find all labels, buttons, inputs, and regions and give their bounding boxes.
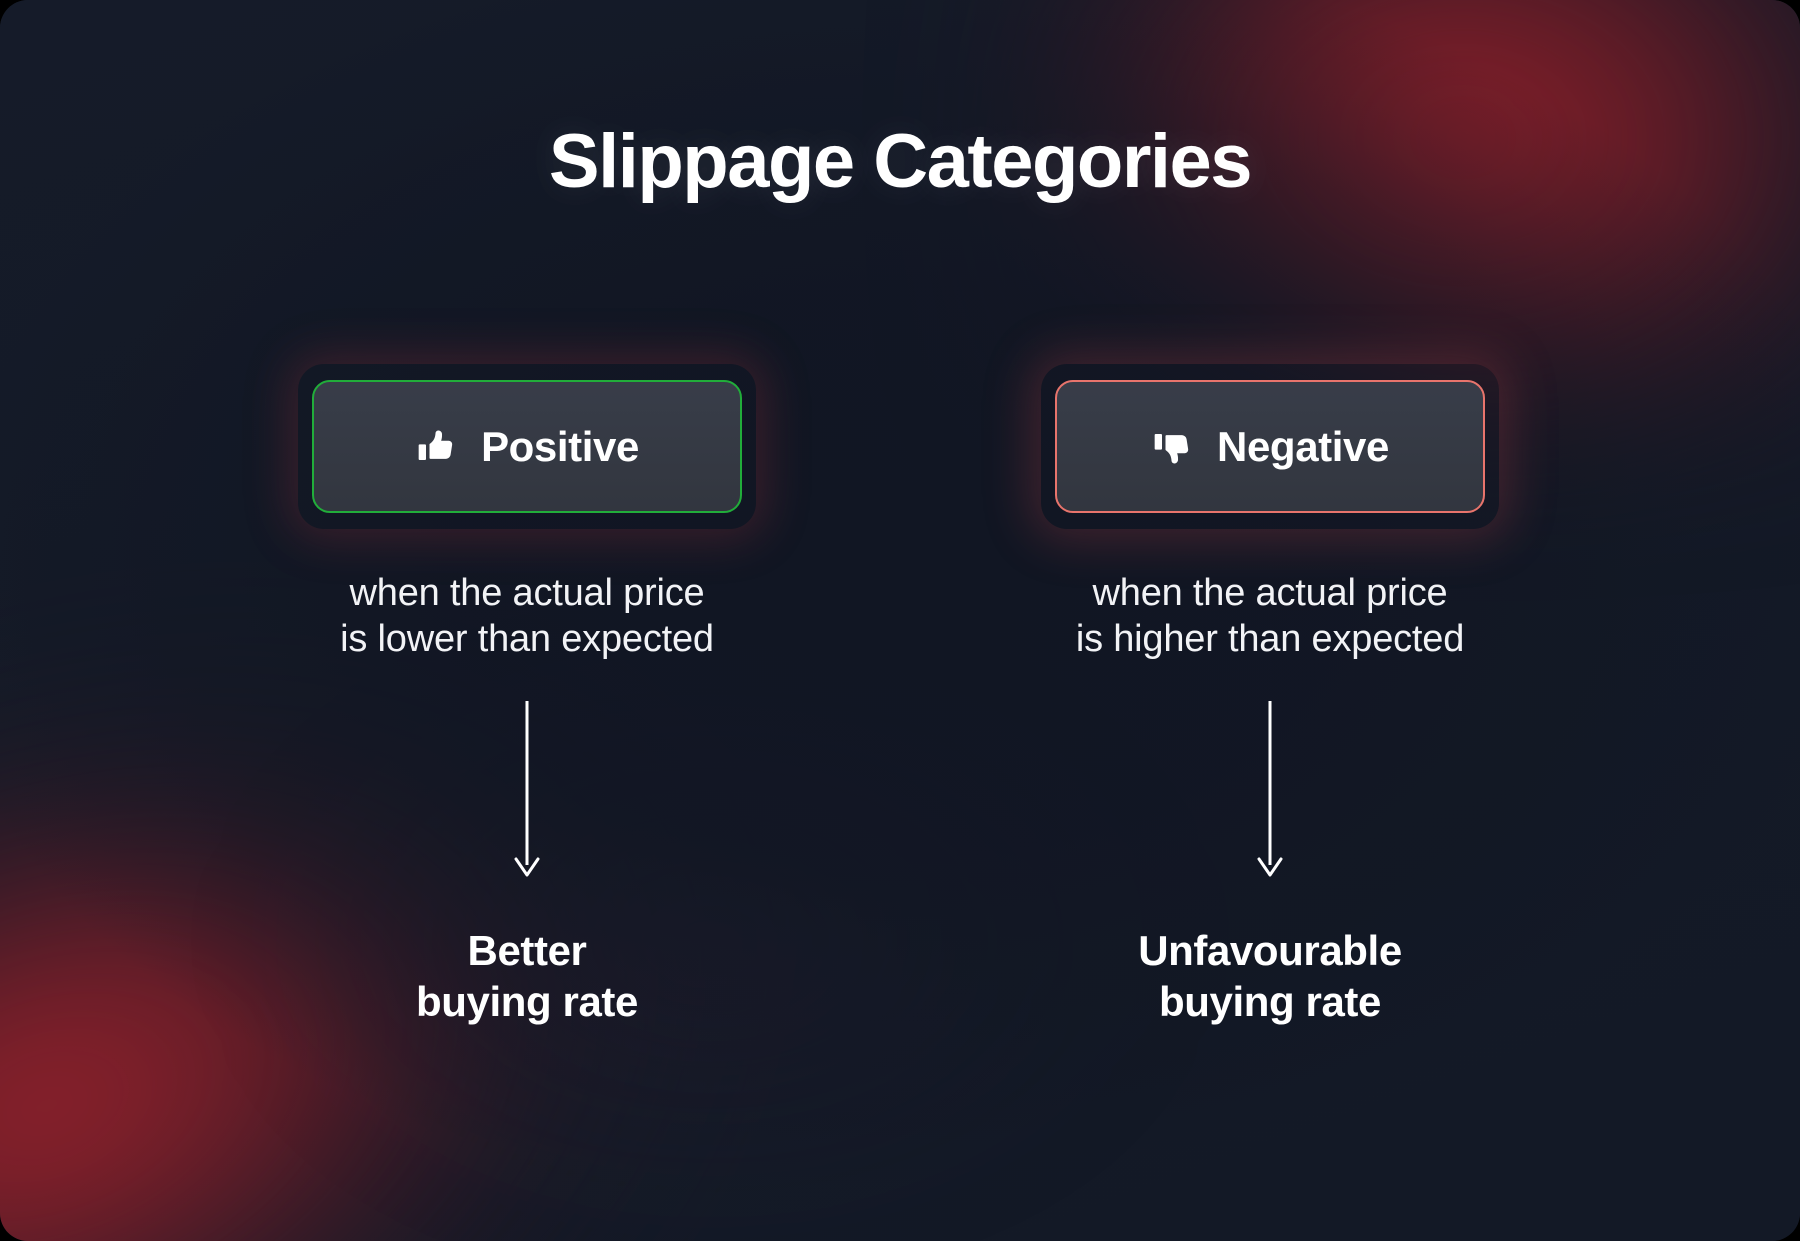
slide-root: Slippage Categories Positive [0, 0, 1800, 1241]
positive-outcome: Better buying rate [416, 925, 638, 1027]
category-columns: Positive when the actual price is lower … [0, 0, 1800, 1241]
positive-badge-label: Positive [481, 423, 639, 471]
negative-badge[interactable]: Negative [1055, 380, 1485, 513]
slide-content: Slippage Categories Positive [0, 0, 1800, 1241]
positive-badge[interactable]: Positive [312, 380, 742, 513]
down-arrow-icon [1250, 699, 1290, 881]
negative-outcome: Unfavourable buying rate [1138, 925, 1402, 1027]
thumbs-up-icon [415, 425, 459, 469]
negative-caption: when the actual price is higher than exp… [1076, 570, 1464, 663]
negative-badge-label: Negative [1217, 423, 1389, 471]
positive-badge-wrap: Positive [312, 380, 742, 513]
negative-badge-wrap: Negative [1055, 380, 1485, 513]
thumbs-down-icon [1151, 425, 1195, 469]
category-column-negative: Negative when the actual price is higher… [950, 380, 1590, 1027]
category-column-positive: Positive when the actual price is lower … [207, 380, 847, 1027]
down-arrow-icon [507, 699, 547, 881]
positive-caption: when the actual price is lower than expe… [340, 570, 714, 663]
